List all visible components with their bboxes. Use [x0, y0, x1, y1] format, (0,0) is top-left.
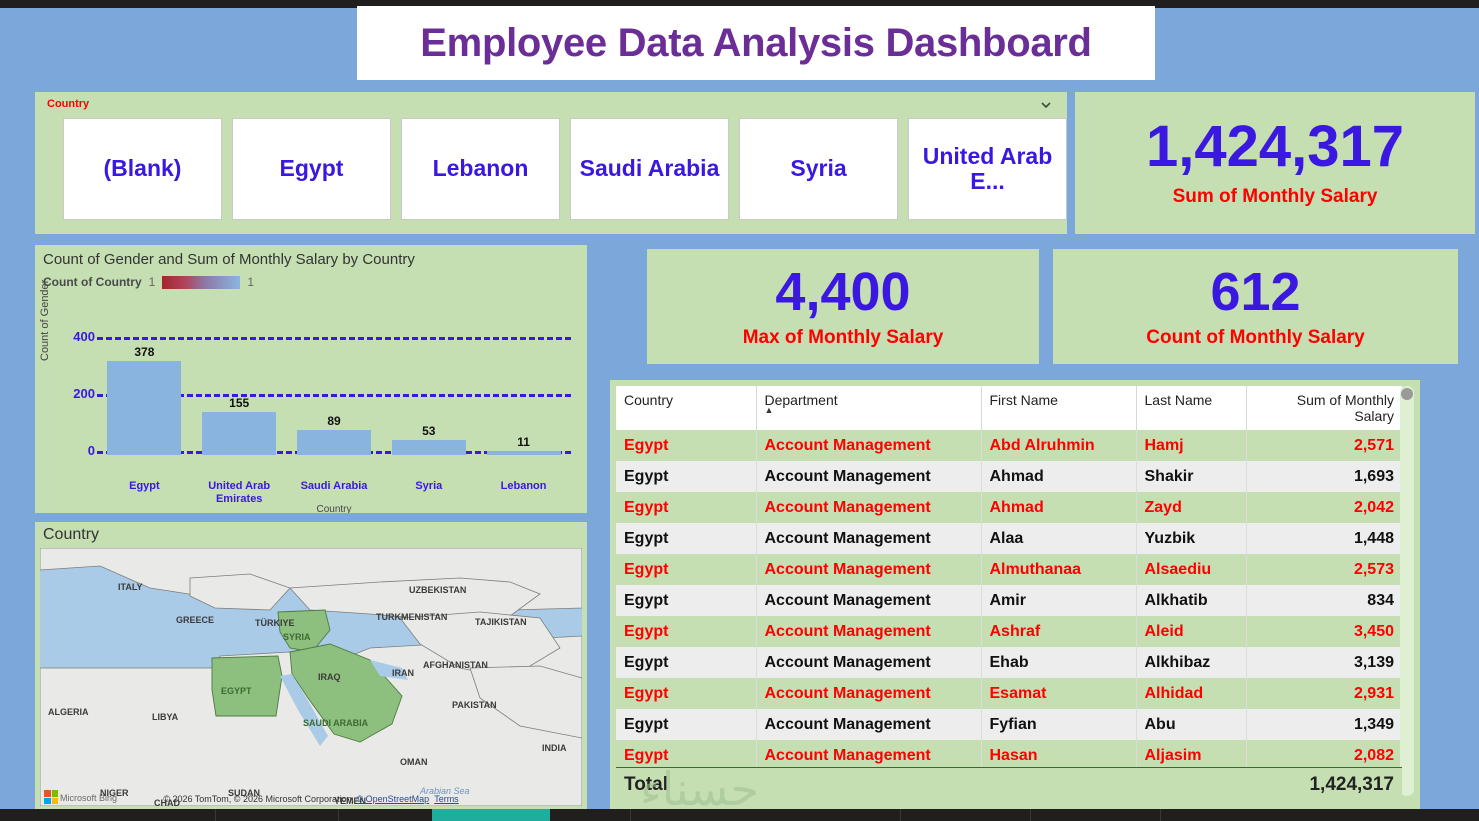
table-row[interactable]: EgyptAccount ManagementAhmadShakir1,693: [616, 461, 1402, 492]
cell-salary: 1,448: [1246, 523, 1402, 554]
dashboard-title-card: Employee Data Analysis Dashboard: [357, 6, 1155, 80]
table-row[interactable]: EgyptAccount ManagementAbd AlruhminHamj2…: [616, 430, 1402, 461]
cell-first-name: Almuthanaa: [981, 554, 1136, 585]
svg-text:ITALY: ITALY: [118, 582, 143, 592]
slicer-item-syria[interactable]: Syria: [739, 118, 898, 220]
cell-department: Account Management: [756, 678, 981, 709]
column-header-department-label: Department: [765, 392, 838, 408]
bar-rect[interactable]: [297, 430, 371, 455]
chart-plot-area: Count of Gender 400 200 0 378 155 89 53: [35, 301, 587, 513]
chart-legend: Count of Country 1 1: [43, 275, 254, 289]
kpi-label: Count of Monthly Salary: [1146, 327, 1365, 349]
cell-country: Egypt: [616, 678, 756, 709]
kpi-card-max-monthly-salary[interactable]: 4,400 Max of Monthly Salary: [647, 249, 1039, 364]
employee-table-card[interactable]: Country Department ▲ First Name Last Nam…: [610, 380, 1420, 809]
map-attribution-text: © 2026 TomTom, © 2026 Microsoft Corporat…: [163, 794, 356, 804]
bar-item[interactable]: 11: [476, 345, 571, 455]
svg-text:UZBEKISTAN: UZBEKISTAN: [409, 585, 466, 595]
cell-salary: 3,450: [1246, 616, 1402, 647]
slicer-item-saudi-arabia[interactable]: Saudi Arabia: [570, 118, 729, 220]
kpi-card-count-monthly-salary[interactable]: 612 Count of Monthly Salary: [1053, 249, 1458, 364]
cell-first-name: Fyfian: [981, 709, 1136, 740]
cell-salary: 3,139: [1246, 647, 1402, 678]
table-row[interactable]: EgyptAccount ManagementEsamatAlhidad2,93…: [616, 678, 1402, 709]
bar-item[interactable]: 155: [192, 345, 287, 455]
slicer-item-egypt[interactable]: Egypt: [232, 118, 391, 220]
taskbar-divider: [1030, 809, 1031, 821]
x-label-saudi-arabia: Saudi Arabia: [287, 480, 382, 508]
y-tick-400: 400: [53, 329, 95, 344]
bar-rect[interactable]: [487, 451, 561, 455]
cell-country: Egypt: [616, 585, 756, 616]
svg-text:INDIA: INDIA: [542, 743, 567, 753]
cell-country: Egypt: [616, 647, 756, 678]
bar-value-label: 89: [327, 414, 340, 428]
taskbar[interactable]: [0, 809, 1479, 821]
svg-text:SAUDI ARABIA: SAUDI ARABIA: [303, 718, 369, 728]
column-header-sum-of-monthly-salary[interactable]: Sum of Monthly Salary: [1246, 386, 1402, 430]
map-canvas[interactable]: ITALY GREECE TÜRKIYE UZBEKISTAN TURKMENI…: [40, 548, 582, 806]
kpi-label: Sum of Monthly Salary: [1173, 186, 1378, 208]
svg-text:LIBYA: LIBYA: [152, 712, 179, 722]
legend-title: Count of Country: [43, 275, 142, 289]
y-tick-0: 0: [53, 443, 95, 458]
svg-text:OMAN: OMAN: [400, 757, 428, 767]
legend-gradient-bar: [162, 276, 240, 289]
bar-value-label: 53: [422, 424, 435, 438]
svg-text:IRAN: IRAN: [392, 668, 414, 678]
cell-first-name: Esamat: [981, 678, 1136, 709]
cell-department: Account Management: [756, 647, 981, 678]
legend-min: 1: [149, 275, 156, 289]
table-row[interactable]: EgyptAccount ManagementEhabAlkhibaz3,139: [616, 647, 1402, 678]
sort-ascending-icon: ▲: [765, 406, 774, 415]
cell-country: Egypt: [616, 554, 756, 585]
svg-text:SYRIA: SYRIA: [283, 632, 311, 642]
cell-department: Account Management: [756, 616, 981, 647]
map-card[interactable]: Country ITALY GREECE TÜRKIYE: [35, 522, 587, 809]
svg-text:TURKMENISTAN: TURKMENISTAN: [376, 612, 447, 622]
chart-x-labels: Egypt United Arab Emirates Saudi Arabia …: [97, 480, 571, 508]
cell-country: Egypt: [616, 461, 756, 492]
bar-rect[interactable]: [202, 412, 276, 455]
cell-department: Account Management: [756, 461, 981, 492]
cell-first-name: Ahmad: [981, 461, 1136, 492]
table-scrollbar[interactable]: [1400, 386, 1414, 796]
cell-department: Account Management: [756, 492, 981, 523]
legend-max: 1: [247, 275, 254, 289]
taskbar-divider: [630, 809, 631, 821]
map-graphic: ITALY GREECE TÜRKIYE UZBEKISTAN TURKMENI…: [40, 548, 582, 806]
cell-department: Account Management: [756, 709, 981, 740]
total-value: 1,424,317: [1309, 774, 1394, 796]
cell-last-name: Yuzbik: [1136, 523, 1246, 554]
cell-last-name: Alkhatib: [1136, 585, 1246, 616]
svg-text:ALGERIA: ALGERIA: [48, 707, 89, 717]
kpi-value: 1,424,317: [1146, 118, 1404, 176]
cell-first-name: Ehab: [981, 647, 1136, 678]
cell-first-name: Alaa: [981, 523, 1136, 554]
svg-text:IRAQ: IRAQ: [318, 672, 341, 682]
kpi-value: 4,400: [775, 265, 910, 319]
bar-value-label: 11: [517, 435, 530, 449]
cell-department: Account Management: [756, 585, 981, 616]
slicer-button-group[interactable]: (Blank) Egypt Lebanon Saudi Arabia Syria…: [63, 118, 1067, 220]
slicer-header-label: Country: [47, 98, 89, 110]
cell-last-name: Zayd: [1136, 492, 1246, 523]
slicer-item-lebanon[interactable]: Lebanon: [401, 118, 560, 220]
svg-text:AFGHANISTAN: AFGHANISTAN: [423, 660, 488, 670]
column-header-last-name[interactable]: Last Name: [1136, 386, 1246, 430]
kpi-label: Max of Monthly Salary: [743, 327, 944, 349]
cell-last-name: Hamj: [1136, 430, 1246, 461]
cell-country: Egypt: [616, 430, 756, 461]
cell-salary: 1,349: [1246, 709, 1402, 740]
map-attribution: © 2026 TomTom, © 2026 Microsoft Corporat…: [40, 794, 582, 804]
kpi-card-sum-monthly-salary[interactable]: 1,424,317 Sum of Monthly Salary: [1075, 92, 1475, 234]
kpi-value: 612: [1210, 265, 1300, 319]
svg-text:TAJIKISTAN: TAJIKISTAN: [475, 617, 527, 627]
cell-first-name: Amir: [981, 585, 1136, 616]
cell-last-name: Shakir: [1136, 461, 1246, 492]
slicer-item-blank[interactable]: (Blank): [63, 118, 222, 220]
cell-last-name: Alhidad: [1136, 678, 1246, 709]
total-label: Total: [624, 774, 668, 796]
y-tick-200: 200: [53, 386, 95, 401]
chart-title: Count of Gender and Sum of Monthly Salar…: [43, 251, 415, 268]
taskbar-divider: [1160, 809, 1161, 821]
cell-salary: 2,573: [1246, 554, 1402, 585]
cell-country: Egypt: [616, 492, 756, 523]
bar-chart-card[interactable]: Count of Gender and Sum of Monthly Salar…: [35, 245, 587, 513]
table-row[interactable]: EgyptAccount ManagementAshrafAleid3,450: [616, 616, 1402, 647]
chart-y-axis-title: Count of Gender: [39, 280, 51, 361]
taskbar-active-app-indicator[interactable]: [432, 809, 550, 821]
svg-text:TÜRKIYE: TÜRKIYE: [255, 618, 295, 628]
table-row[interactable]: EgyptAccount ManagementAhmadZayd2,042: [616, 492, 1402, 523]
bar-item[interactable]: 378: [97, 345, 192, 455]
cell-department: Account Management: [756, 523, 981, 554]
bar-value-label: 155: [229, 396, 249, 410]
taskbar-divider: [338, 809, 339, 821]
table-row[interactable]: EgyptAccount ManagementFyfianAbu1,349: [616, 709, 1402, 740]
chevron-down-icon[interactable]: [1039, 98, 1053, 112]
table-total-row: Total 1,424,317: [616, 767, 1402, 801]
cell-salary: 834: [1246, 585, 1402, 616]
cell-first-name: Ashraf: [981, 616, 1136, 647]
x-label-egypt: Egypt: [97, 480, 192, 508]
column-header-country[interactable]: Country: [616, 386, 756, 430]
cell-last-name: Alkhibaz: [1136, 647, 1246, 678]
terms-link[interactable]: Terms: [434, 794, 459, 804]
bar-item[interactable]: 89: [287, 345, 382, 455]
map-title: Country: [43, 526, 99, 544]
openstreetmap-link[interactable]: © OpenStreetMap: [357, 794, 430, 804]
cell-last-name: Aleid: [1136, 616, 1246, 647]
cell-salary: 1,693: [1246, 461, 1402, 492]
table-row[interactable]: EgyptAccount ManagementAlaaYuzbik1,448: [616, 523, 1402, 554]
column-header-department[interactable]: Department ▲: [756, 386, 981, 430]
employee-table[interactable]: Country Department ▲ First Name Last Nam…: [616, 386, 1402, 789]
table-row[interactable]: EgyptAccount ManagementAlmuthanaaAlsaedi…: [616, 554, 1402, 585]
svg-text:GREECE: GREECE: [176, 615, 214, 625]
cell-salary: 2,931: [1246, 678, 1402, 709]
country-slicer[interactable]: Country (Blank) Egypt Lebanon Saudi Arab…: [35, 92, 1067, 234]
cell-country: Egypt: [616, 523, 756, 554]
table-header-row: Country Department ▲ First Name Last Nam…: [616, 386, 1402, 430]
bar-rect[interactable]: [107, 361, 181, 455]
gridline-400: [97, 337, 571, 340]
x-label-uae: United Arab Emirates: [192, 480, 287, 508]
taskbar-divider: [900, 809, 901, 821]
cell-department: Account Management: [756, 430, 981, 461]
cell-first-name: Ahmad: [981, 492, 1136, 523]
cell-first-name: Abd Alruhmin: [981, 430, 1136, 461]
column-header-first-name[interactable]: First Name: [981, 386, 1136, 430]
bar-item[interactable]: 53: [381, 345, 476, 455]
cell-salary: 2,042: [1246, 492, 1402, 523]
taskbar-divider: [215, 809, 216, 821]
page-title: Employee Data Analysis Dashboard: [420, 21, 1091, 66]
cell-country: Egypt: [616, 709, 756, 740]
cell-last-name: Abu: [1136, 709, 1246, 740]
svg-text:PAKISTAN: PAKISTAN: [452, 700, 497, 710]
x-label-lebanon: Lebanon: [476, 480, 571, 508]
slicer-item-united-arab-emirates[interactable]: United Arab E...: [908, 118, 1067, 220]
cell-country: Egypt: [616, 616, 756, 647]
table-scrollbar-thumb[interactable]: [1401, 388, 1413, 400]
table-row[interactable]: EgyptAccount ManagementAmirAlkhatib834: [616, 585, 1402, 616]
cell-salary: 2,571: [1246, 430, 1402, 461]
cell-last-name: Alsaediu: [1136, 554, 1246, 585]
bar-value-label: 378: [134, 345, 154, 359]
x-label-syria: Syria: [381, 480, 476, 508]
svg-text:EGYPT: EGYPT: [221, 686, 252, 696]
chart-bars: 378 155 89 53 11: [97, 345, 571, 455]
bar-rect[interactable]: [392, 440, 466, 455]
cell-department: Account Management: [756, 554, 981, 585]
chart-x-axis-title: Country: [97, 504, 571, 513]
